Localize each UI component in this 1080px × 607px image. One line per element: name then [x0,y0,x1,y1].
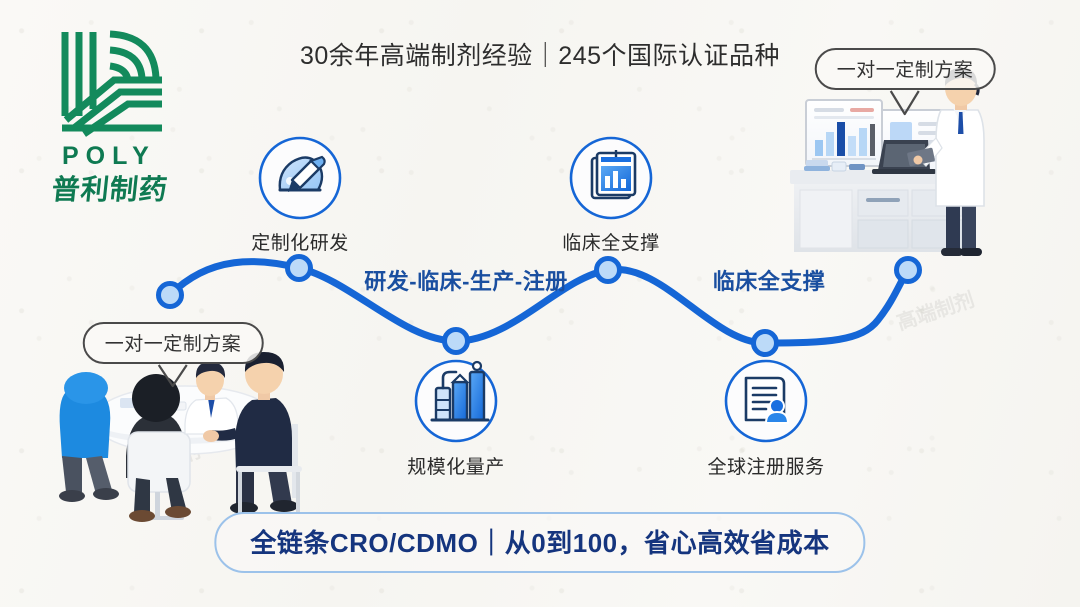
pill-right-label: 一对一定制方案 [815,48,996,90]
clinical-chart-document-icon [592,150,635,198]
node-label-clinical: 临床全支撑 [562,228,660,255]
bottom-banner[interactable]: 全链条CRO/CDMO｜从0到100，省心高效省成本 [214,512,865,573]
curve-node-4[interactable] [754,332,777,355]
curve-node-3[interactable] [597,259,620,282]
node-icon-circle-registration[interactable] [726,361,806,441]
bottom-banner-text: 全链条CRO/CDMO｜从0到100，省心高效省成本 [250,523,829,560]
pill-right-tail-icon [888,90,922,116]
curve-node-start[interactable] [159,284,182,307]
pill-left-label: 一对一定制方案 [83,322,264,364]
pill-right[interactable]: 一对一定制方案 [815,48,996,90]
curve-label-phase-1: 研发-临床-生产-注册 [364,264,567,296]
curve-node-1[interactable] [288,257,311,280]
curve-label-phase-2: 临床全支撑 [713,264,826,296]
node-icon-circle-manufacturing[interactable] [416,361,496,441]
node-icon-circle-rd[interactable] [260,138,340,218]
node-label-rd: 定制化研发 [251,228,349,255]
registration-document-person-icon [746,378,788,423]
pill-left-tail-icon [156,364,190,388]
node-label-registration: 全球注册服务 [707,452,824,479]
curve-node-end[interactable] [897,259,920,282]
pill-left[interactable]: 一对一定制方案 [83,322,264,364]
node-icon-circle-clinical[interactable] [571,138,651,218]
curve-node-2[interactable] [445,330,468,353]
node-label-manufacturing: 规模化量产 [407,452,505,479]
